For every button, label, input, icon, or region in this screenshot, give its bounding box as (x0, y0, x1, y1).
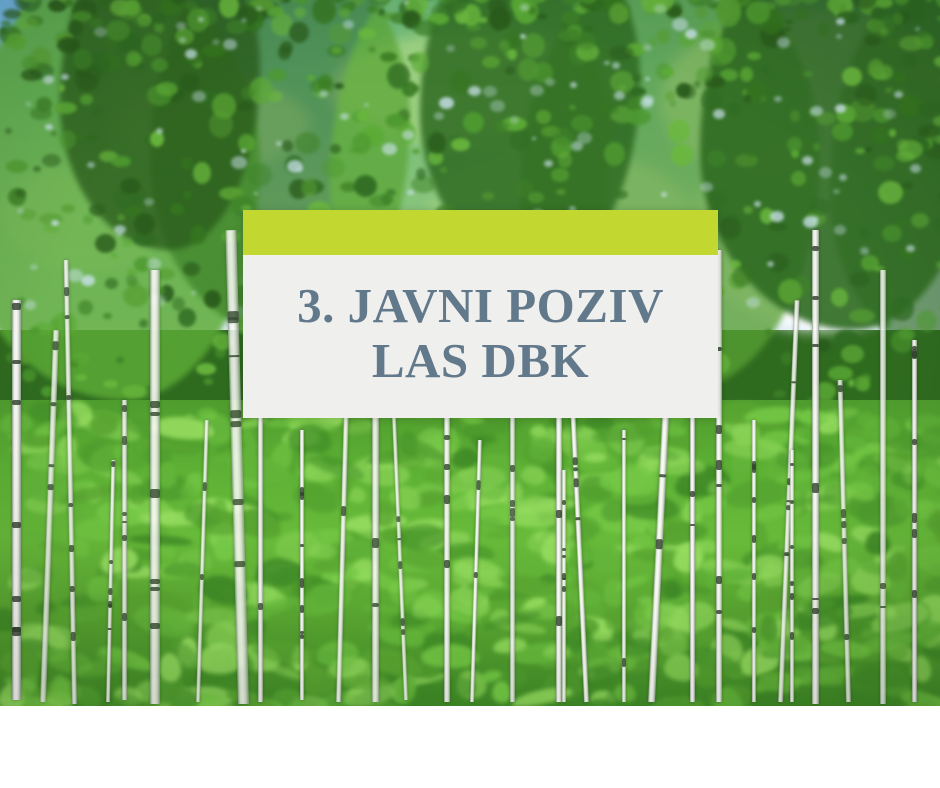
page-title: 3. JAVNI POZIV LAS DBK (283, 279, 678, 389)
title-line-2: LAS DBK (372, 333, 589, 388)
title-card-body: 3. JAVNI POZIV LAS DBK (243, 255, 718, 418)
poster: 3. JAVNI POZIV LAS DBK (0, 0, 940, 788)
title-line-1: 3. JAVNI POZIV (297, 278, 664, 333)
footer-logo-bar: LASDBK razvojni center novo mesto ★★★★★★… (0, 706, 940, 788)
title-card: 3. JAVNI POZIV LAS DBK (243, 210, 718, 418)
accent-bar (243, 210, 718, 255)
